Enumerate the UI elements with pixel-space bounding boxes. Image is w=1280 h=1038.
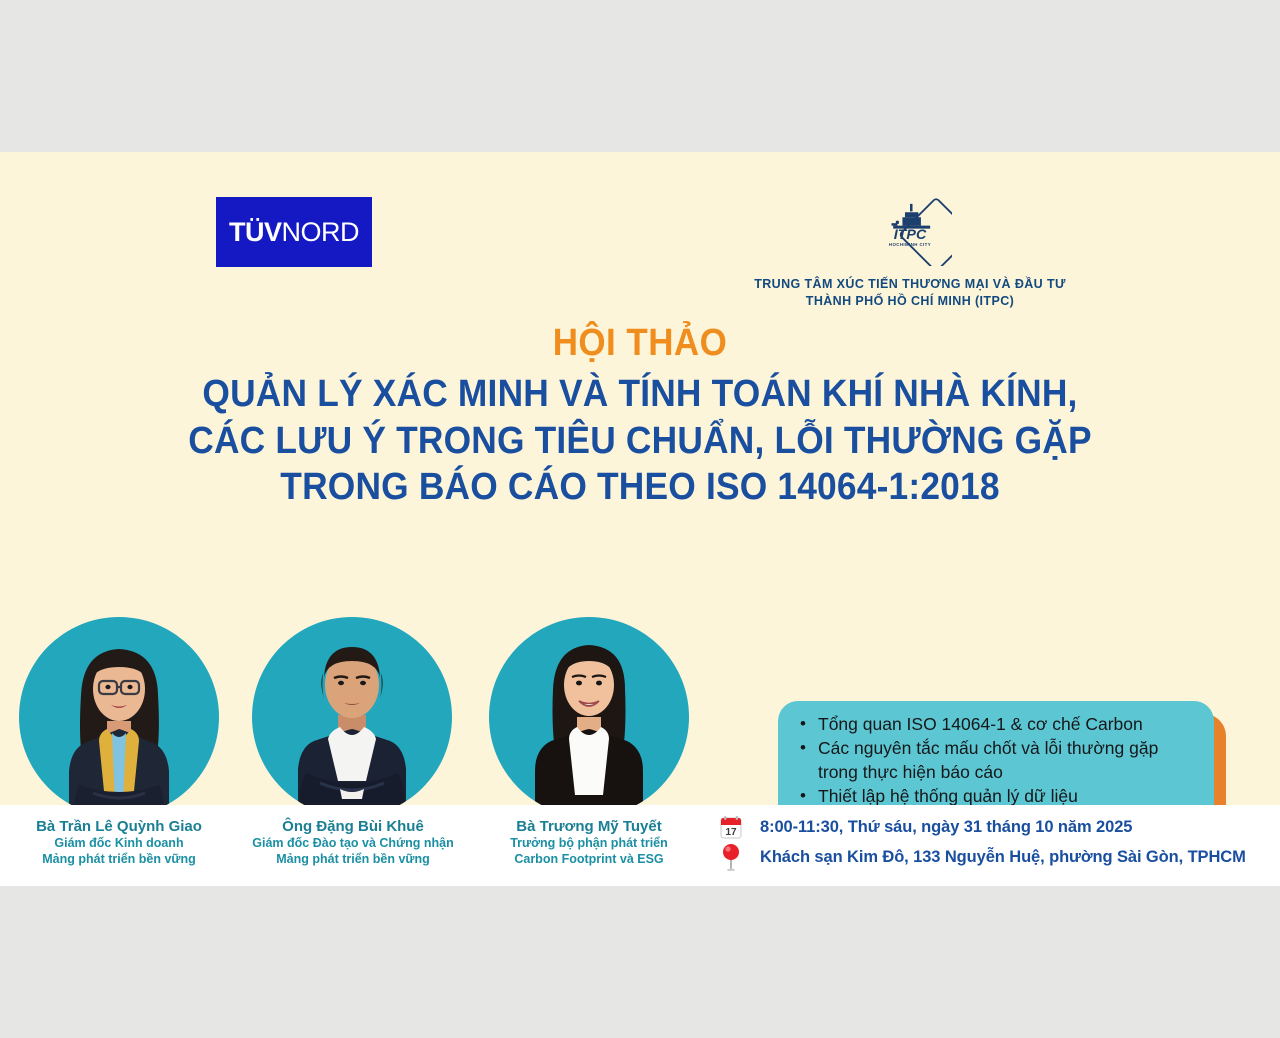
title-kicker: HỘI THẢO (51, 324, 1229, 362)
calendar-icon: 17 (718, 816, 744, 839)
event-location-text: Khách sạn Kim Đô, 133 Nguyễn Huệ, phường… (760, 848, 1246, 867)
speaker-name: Bà Trần Lê Quỳnh Giao (19, 818, 219, 836)
svg-text:17: 17 (725, 827, 737, 838)
speaker-caption-2: Ông Đặng Bùi Khuê Giám đốc Đào tạo và Ch… (238, 818, 468, 867)
speaker-photo-3 (489, 617, 689, 817)
speaker-role-line1: Giám đốc Đào tạo và Chứng nhận (238, 836, 468, 851)
speaker-role-line1: Giám đốc Kinh doanh (19, 836, 219, 851)
tuv-nord-logo-bold: TÜV (229, 217, 282, 247)
bullets-list: Tổng quan ISO 14064-1 & cơ chế Carbon Cá… (792, 713, 1198, 809)
speaker-photo-2 (252, 617, 452, 817)
speaker-role-line2: Carbon Footprint và ESG (489, 852, 689, 867)
speaker-role-line2: Mảng phát triển bền vững (238, 852, 468, 867)
tuv-nord-logo-text: TÜVNORD (229, 217, 359, 248)
title-block: HỘI THẢO QUẢN LÝ XÁC MINH VÀ TÍNH TOÁN K… (0, 324, 1280, 511)
title-line-2: CÁC LƯU Ý TRONG TIÊU CHUẨN, LỖI THƯỜNG G… (45, 418, 1235, 465)
speaker-caption-3: Bà Trương Mỹ Tuyết Trưởng bộ phận phát t… (489, 818, 689, 867)
title-headline: QUẢN LÝ XÁC MINH VÀ TÍNH TOÁN KHÍ NHÀ KÍ… (45, 371, 1235, 511)
event-info: 17 8:00-11:30, Thứ sáu, ngày 31 tháng 10… (718, 812, 1246, 872)
speaker-name: Bà Trương Mỹ Tuyết (489, 818, 689, 836)
tuv-nord-logo: TÜVNORD (216, 197, 372, 267)
event-location-row: Khách sạn Kim Đô, 133 Nguyễn Huệ, phường… (718, 842, 1246, 872)
speaker-photo-1 (19, 617, 219, 817)
title-line-3: TRONG BÁO CÁO THEO ISO 14064-1:2018 (45, 464, 1235, 511)
itpc-logo-block: ITPC HOCHIMINH CITY TRUNG TÂM XÚC TIẾN T… (720, 182, 1100, 310)
speaker-role-line2: Mảng phát triển bền vững (19, 852, 219, 867)
itpc-diamond-icon: ITPC HOCHIMINH CITY (868, 182, 952, 266)
svg-text:ITPC: ITPC (894, 227, 927, 243)
portrait-person-3 (489, 617, 689, 829)
tuv-nord-logo-regular: NORD (282, 217, 360, 247)
title-line-1: QUẢN LÝ XÁC MINH VÀ TÍNH TOÁN KHÍ NHÀ KÍ… (45, 371, 1235, 418)
calendar-icon-svg: 17 (720, 816, 742, 839)
poster-canvas: TÜVNORD ITPC HOCHIMINH CITY TRUNG TÂM XÚ… (0, 0, 1280, 1038)
svg-text:HOCHIMINH CITY: HOCHIMINH CITY (889, 242, 931, 247)
map-pin-icon (718, 843, 744, 871)
itpc-caption: TRUNG TÂM XÚC TIẾN THƯƠNG MẠI VÀ ĐẦU TƯ … (754, 276, 1066, 310)
event-datetime-row: 17 8:00-11:30, Thứ sáu, ngày 31 tháng 10… (718, 812, 1246, 842)
itpc-caption-line1: TRUNG TÂM XÚC TIẾN THƯƠNG MẠI VÀ ĐẦU TƯ (754, 276, 1066, 293)
event-datetime-text: 8:00-11:30, Thứ sáu, ngày 31 tháng 10 nă… (760, 818, 1132, 837)
portrait-person-1 (19, 617, 219, 829)
bullet-item: Các nguyên tắc mấu chốt và lỗi thường gặ… (792, 737, 1198, 785)
speaker-role-line1: Trưởng bộ phận phát triển (489, 836, 689, 851)
map-pin-icon-svg (721, 843, 741, 871)
portrait-person-2 (252, 617, 452, 829)
itpc-caption-line2: THÀNH PHỐ HỒ CHÍ MINH (ITPC) (754, 293, 1066, 310)
poster: TÜVNORD ITPC HOCHIMINH CITY TRUNG TÂM XÚ… (0, 152, 1280, 886)
speaker-name: Ông Đặng Bùi Khuê (238, 818, 468, 836)
bullet-item: Tổng quan ISO 14064-1 & cơ chế Carbon (792, 713, 1198, 737)
speaker-caption-1: Bà Trần Lê Quỳnh Giao Giám đốc Kinh doan… (19, 818, 219, 867)
